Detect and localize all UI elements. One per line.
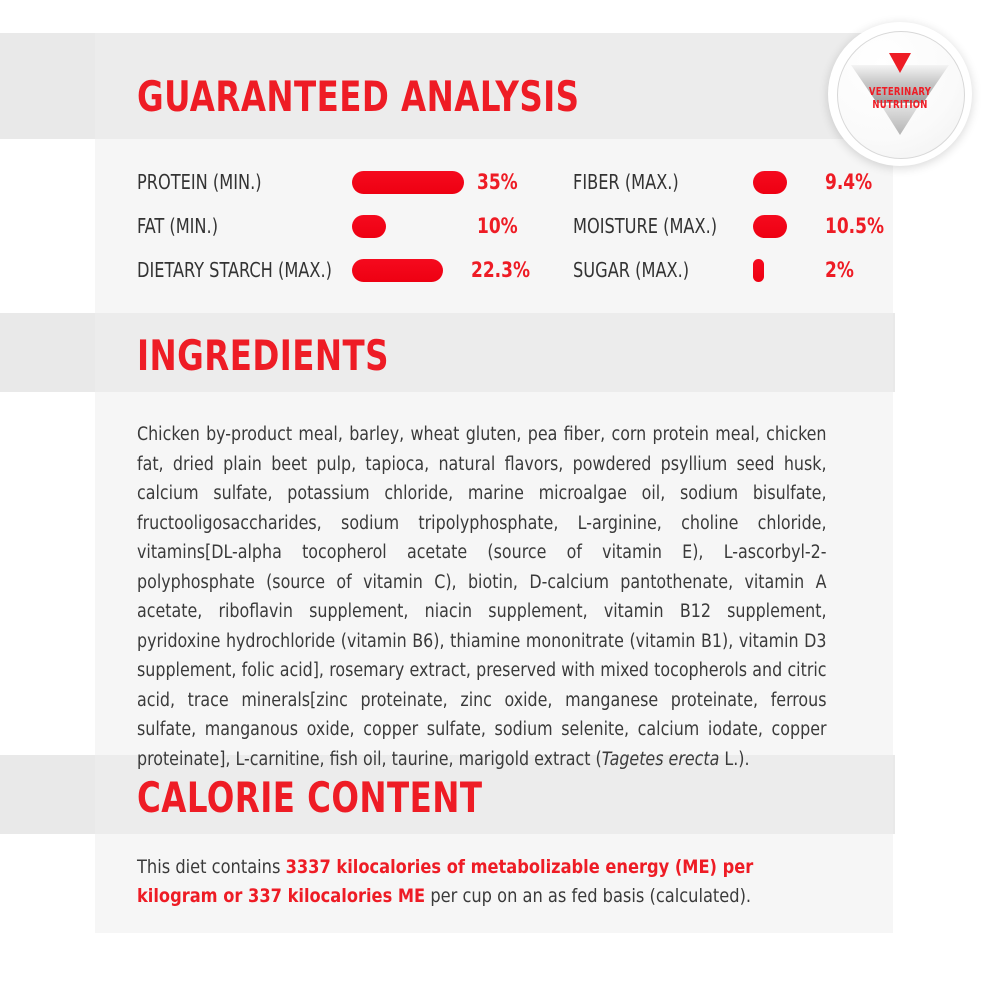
analysis-column-left: PROTEIN (MIN.) 35% FAT (MIN.) 10% DIETAR… [137,160,537,292]
nutrition-label-page: GUARANTEED ANALYSIS PROTEIN (MIN.) 35% F… [0,0,1000,1000]
analysis-value: 9.4% [825,170,872,194]
analysis-value: 10% [477,214,518,238]
calorie-content-title: CALORIE CONTENT [137,773,483,822]
analysis-bar-cell [753,171,825,194]
ingredients-latin-name: Tagetes erecta [602,749,720,770]
ingredients-title: INGREDIENTS [137,331,389,380]
calorie-text-lead: This diet contains [137,856,286,878]
analysis-bar-cell [352,215,477,238]
analysis-bar [753,259,764,282]
analysis-row: PROTEIN (MIN.) 35% [137,160,537,204]
analysis-label: FAT (MIN.) [137,214,331,238]
analysis-bar [352,171,464,194]
badge-label: VETERINARY NUTRITION [835,86,965,111]
analysis-value: 10.5% [825,214,884,238]
analysis-bar [753,171,787,194]
badge-label-line1: VETERINARY [835,86,965,99]
analysis-label: SUGAR (MAX.) [573,258,735,282]
analysis-row: FIBER (MAX.) 9.4% [573,160,893,204]
analysis-bar [352,215,386,238]
analysis-row: MOISTURE (MAX.) 10.5% [573,204,893,248]
analysis-label: DIETARY STARCH (MAX.) [137,258,331,282]
analysis-row: DIETARY STARCH (MAX.) 22.3% [137,248,537,292]
guaranteed-analysis-table: PROTEIN (MIN.) 35% FAT (MIN.) 10% DIETAR… [0,160,895,300]
calorie-text-tail: per cup on an as fed basis (calculated). [425,885,751,907]
analysis-label: FIBER (MAX.) [573,170,735,194]
badge-label-line2: NUTRITION [835,99,965,112]
analysis-bar-cell [753,215,825,238]
calorie-content-text: This diet contains 3337 kilocalories of … [137,853,802,911]
analysis-bar [352,259,443,282]
analysis-bar [753,215,787,238]
analysis-row: FAT (MIN.) 10% [137,204,537,248]
analysis-value: 35% [477,170,518,194]
ingredients-text-tail: L.). [719,749,749,770]
analysis-bar-cell [753,259,825,282]
analysis-label: MOISTURE (MAX.) [573,214,735,238]
veterinary-nutrition-badge: VETERINARY NUTRITION [828,22,972,166]
analysis-label: PROTEIN (MIN.) [137,170,331,194]
analysis-bar-cell [352,259,471,282]
analysis-value: 22.3% [471,258,530,282]
guaranteed-analysis-title: GUARANTEED ANALYSIS [137,72,579,121]
ingredients-text-main: Chicken by-product meal, barley, wheat g… [137,424,827,770]
analysis-value: 2% [825,258,854,282]
analysis-bar-cell [352,171,477,194]
ingredients-text: Chicken by-product meal, barley, wheat g… [137,420,827,774]
analysis-column-right: FIBER (MAX.) 9.4% MOISTURE (MAX.) 10.5% … [573,160,893,292]
analysis-row: SUGAR (MAX.) 2% [573,248,893,292]
